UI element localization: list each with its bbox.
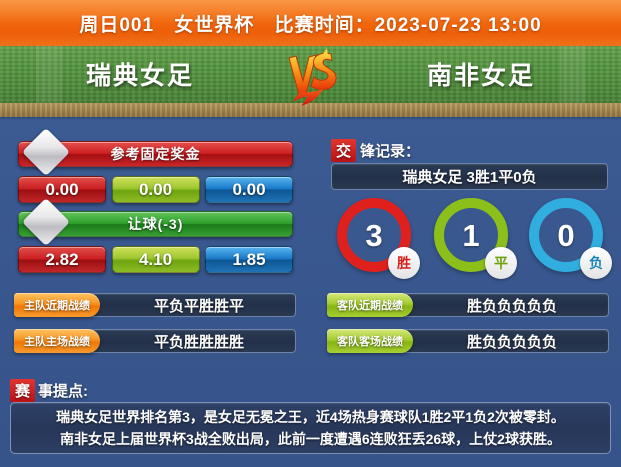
handicap-title: 让球(-3) — [128, 214, 184, 234]
away-venue-form-label: 客队客场战绩 — [327, 329, 413, 353]
home-recent-form-value: 平负平胜胜平 — [90, 293, 296, 317]
h2h-ring-charts: 3 胜 1 平 0 负 — [331, 198, 611, 286]
h2h-ring-loss: 0 负 — [529, 198, 603, 272]
diamond-icon — [22, 128, 70, 176]
handicap-title-bar: 让球(-3) — [18, 211, 293, 237]
pitch-edge — [0, 117, 621, 120]
ring-value-draw: 1 — [462, 220, 479, 251]
analysis-line-2: 南非女足上届世界杯3战全败出局，此前一度遭遇6连败狂丢26球，上仗2球获胜。 — [19, 428, 602, 450]
fixed-odds-draw[interactable]: 0.00 — [112, 176, 200, 203]
ring-label-draw: 平 — [485, 247, 517, 279]
kickoff-time: 比赛时间：2023-07-23 13:00 — [275, 15, 542, 36]
diamond-icon — [22, 198, 70, 246]
fixed-odds-title-bar: 参考固定奖金 — [18, 141, 293, 167]
away-recent-form-row: 客队近期战绩 胜负负负负负 — [327, 293, 609, 317]
match-header-text: 周日001 女世界杯 比赛时间：2023-07-23 13:00 — [79, 10, 541, 37]
home-team-name: 瑞典女足 — [0, 56, 280, 92]
away-recent-form-label: 客队近期战绩 — [327, 293, 413, 317]
h2h-ring-win: 3 胜 — [337, 198, 411, 272]
fixed-odds-title: 参考固定奖金 — [111, 144, 201, 164]
handicap-odds-home[interactable]: 2.82 — [18, 246, 106, 273]
handicap-odds-draw[interactable]: 4.10 — [112, 246, 200, 273]
match-header-bar: 周日001 女世界杯 比赛时间：2023-07-23 13:00 — [0, 0, 621, 46]
ring-value-loss: 0 — [557, 220, 574, 251]
home-venue-form-row: 主队主场战绩 平负胜胜胜胜 — [14, 329, 296, 353]
ring-label-loss: 负 — [580, 247, 612, 279]
home-venue-form-value: 平负胜胜胜胜 — [90, 329, 296, 353]
handicap-odds-away[interactable]: 1.85 — [205, 246, 293, 273]
analysis-title-text: 事提点: — [38, 380, 88, 401]
handicap-odds-row: 2.82 4.10 1.85 — [18, 246, 293, 273]
vs-flame-icon — [283, 48, 341, 110]
ring-value-win: 3 — [365, 220, 382, 251]
away-recent-form-value: 胜负负负负负 — [403, 293, 609, 317]
analysis-box: 瑞典女足世界排名第3，是女足无冕之王，近4场热身赛球队1胜2平1负2次被零封。 … — [10, 402, 611, 454]
h2h-section-title: 交 锋记录： — [331, 139, 420, 162]
away-venue-form-row: 客队客场战绩 胜负负负负负 — [327, 329, 609, 353]
away-venue-form-value: 胜负负负负负 — [403, 329, 609, 353]
fixed-odds-away[interactable]: 0.00 — [205, 176, 293, 203]
h2h-ring-draw: 1 平 — [434, 198, 508, 272]
home-recent-form-row: 主队近期战绩 平负平胜胜平 — [14, 293, 296, 317]
home-venue-form-label: 主队主场战绩 — [14, 329, 100, 353]
fixed-odds-row: 0.00 0.00 0.00 — [18, 176, 293, 203]
ring-label-win: 胜 — [388, 247, 420, 279]
fixed-odds-home[interactable]: 0.00 — [18, 176, 106, 203]
analysis-section-title: 赛 事提点: — [10, 379, 88, 402]
league-name: 女世界杯 — [174, 15, 254, 36]
home-recent-form-label: 主队近期战绩 — [14, 293, 100, 317]
h2h-title-text: 锋记录： — [360, 140, 420, 161]
match-number: 周日001 — [79, 15, 154, 36]
h2h-summary: 瑞典女足 3胜1平0负 — [331, 163, 608, 190]
match-preview-card: 周日001 女世界杯 比赛时间：2023-07-23 13:00 瑞典女足 南非… — [0, 0, 621, 467]
h2h-badge: 交 — [331, 139, 356, 162]
analysis-line-1: 瑞典女足世界排名第3，是女足无冕之王，近4场热身赛球队1胜2平1负2次被零封。 — [19, 406, 602, 428]
away-team-name: 南非女足 — [341, 56, 621, 92]
analysis-badge: 赛 — [10, 379, 35, 402]
